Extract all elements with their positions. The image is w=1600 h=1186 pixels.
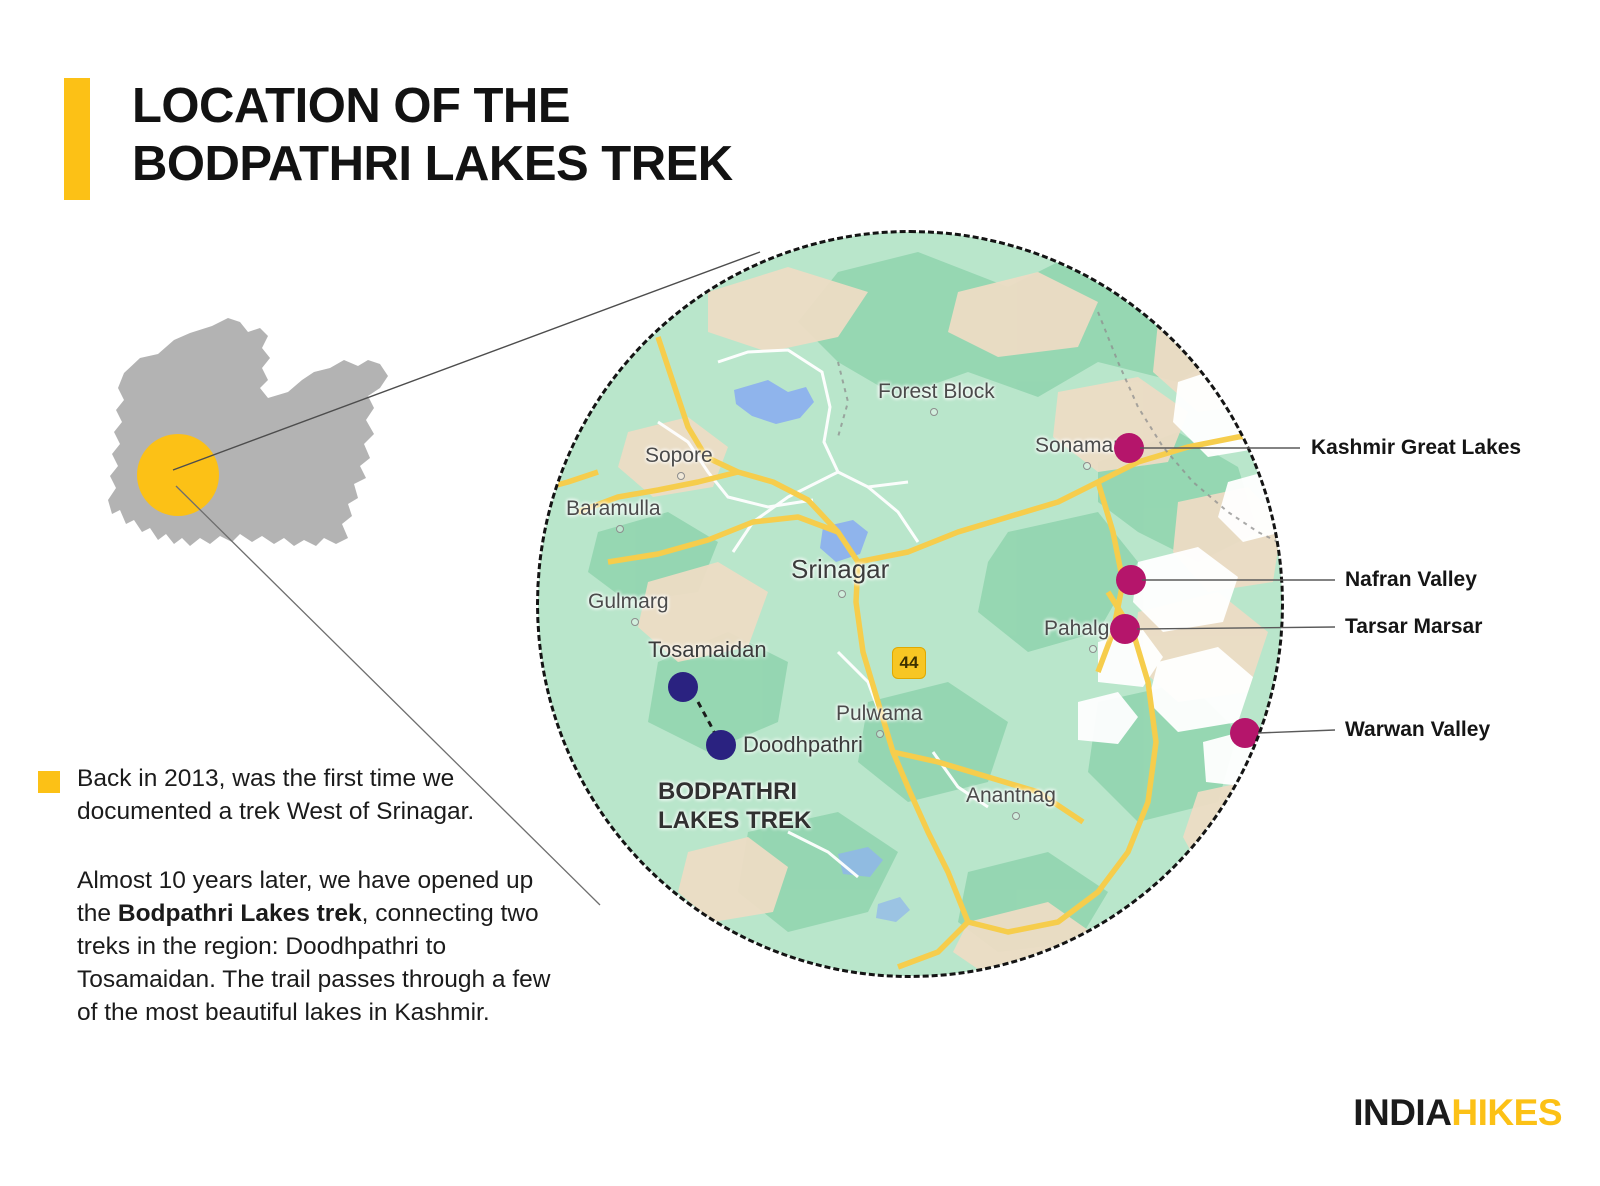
region-highlight-circle bbox=[137, 434, 219, 516]
logo-hikes-text: HIKES bbox=[1451, 1092, 1562, 1133]
paragraph-1-row: Back in 2013, was the first time we docu… bbox=[38, 762, 558, 828]
indiahikes-logo[interactable]: INDIAHIKES bbox=[1353, 1092, 1562, 1134]
bullet-square-icon bbox=[38, 771, 60, 793]
logo-india-text: INDIA bbox=[1353, 1092, 1451, 1133]
jammu-kashmir-silhouette-icon bbox=[62, 288, 402, 588]
map-dashed-border bbox=[536, 230, 1284, 978]
title-accent-bar bbox=[64, 78, 90, 200]
callout-warwan-valley[interactable]: Warwan Valley bbox=[1345, 718, 1490, 742]
paragraph-2: Almost 10 years later, we have opened up… bbox=[77, 864, 558, 1029]
locator-map bbox=[62, 288, 402, 588]
body-copy: Back in 2013, was the first time we docu… bbox=[38, 762, 558, 1029]
region-map[interactable]: Forest Block Sopore Baramulla Gulmarg Sr… bbox=[538, 232, 1282, 976]
callout-tarsar-marsar[interactable]: Tarsar Marsar bbox=[1345, 615, 1482, 639]
callout-nafran-valley[interactable]: Nafran Valley bbox=[1345, 568, 1477, 592]
paragraph-1: Back in 2013, was the first time we docu… bbox=[77, 762, 558, 828]
callout-kashmir-great-lakes[interactable]: Kashmir Great Lakes bbox=[1311, 436, 1521, 460]
title-text: LOCATION OF THE BODPATHRI LAKES TREK bbox=[132, 78, 733, 194]
infographic-root: LOCATION OF THE BODPATHRI LAKES TREK Bac… bbox=[0, 0, 1600, 1186]
page-title: LOCATION OF THE BODPATHRI LAKES TREK bbox=[64, 78, 733, 200]
paragraph-2-bold: Bodpathri Lakes trek bbox=[118, 900, 362, 927]
